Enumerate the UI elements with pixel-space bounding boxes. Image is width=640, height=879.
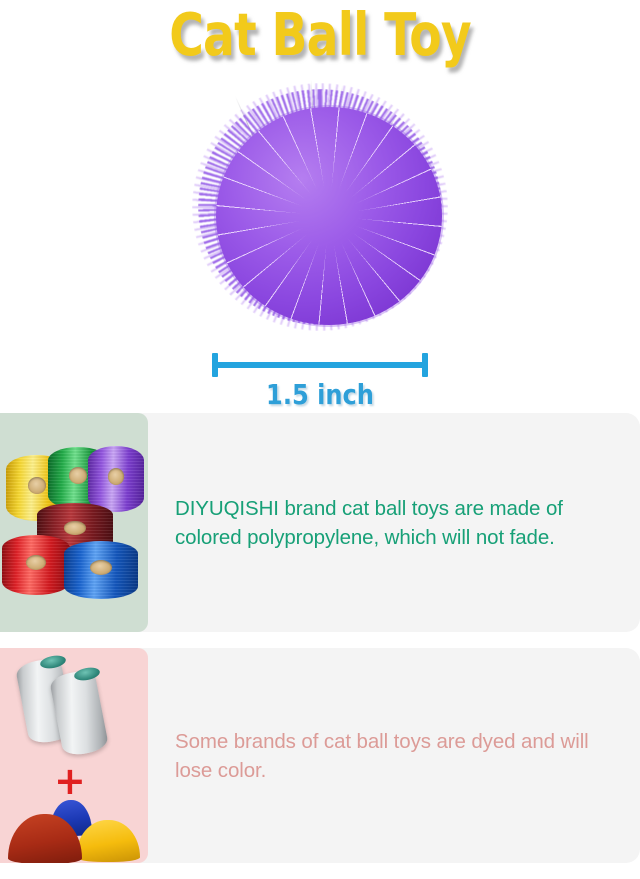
size-measurement: 1.5 inch bbox=[0, 353, 640, 413]
plus-icon: + bbox=[54, 762, 86, 800]
white-yarn-and-dye-image: + White yarn cones plus red, blue and ye… bbox=[0, 648, 148, 863]
measurement-line bbox=[212, 362, 428, 368]
measurement-end-cap-right bbox=[422, 353, 428, 377]
feature-panel-quality-bad: + White yarn cones plus red, blue and ye… bbox=[0, 648, 640, 863]
page-title: Cat Ball Toy bbox=[64, 2, 576, 68]
feature-panel-quality-good: Six spools of colored polypropylene yarn… bbox=[0, 413, 640, 632]
feature-panel-bad-body: Some brands of cat ball toys are dyed an… bbox=[148, 648, 640, 863]
spool-core bbox=[28, 477, 47, 494]
spool-purple bbox=[88, 446, 144, 512]
pompom-body bbox=[216, 107, 442, 325]
yarn-cone-right bbox=[49, 668, 110, 757]
spool-red bbox=[2, 535, 70, 595]
spool-core bbox=[108, 468, 125, 485]
bad-media-alt-text: White yarn cones plus red, blue and yell… bbox=[0, 648, 1, 649]
title-area: Cat Ball Toy bbox=[0, 0, 640, 78]
colored-yarn-spools-image: Six spools of colored polypropylene yarn bbox=[0, 413, 148, 632]
measurement-end-cap-left bbox=[212, 353, 218, 377]
feature-text-bad: Some brands of cat ball toys are dyed an… bbox=[175, 727, 622, 785]
spool-core bbox=[64, 521, 87, 535]
yarn-cone-left-top bbox=[39, 654, 67, 671]
spool-blue bbox=[64, 541, 138, 599]
hero-alt-text: Fuzzy purple pom pom cat ball toy with s… bbox=[202, 95, 203, 96]
hero-product-image: Fuzzy purple pom pom cat ball toy with s… bbox=[0, 78, 640, 353]
measurement-label: 1.5 inch bbox=[45, 379, 595, 411]
tinsel-sparkle-overlay bbox=[216, 107, 442, 325]
feature-text-good: DIYUQISHI brand cat ball toys are made o… bbox=[175, 494, 622, 552]
good-media-alt-text: Six spools of colored polypropylene yarn bbox=[0, 413, 1, 414]
spool-core bbox=[69, 467, 87, 483]
feature-panel-good-body: DIYUQISHI brand cat ball toys are made o… bbox=[148, 413, 640, 632]
yarn-cone-right-top bbox=[73, 666, 101, 683]
pompom-ball-graphic: Fuzzy purple pom pom cat ball toy with s… bbox=[202, 95, 458, 343]
